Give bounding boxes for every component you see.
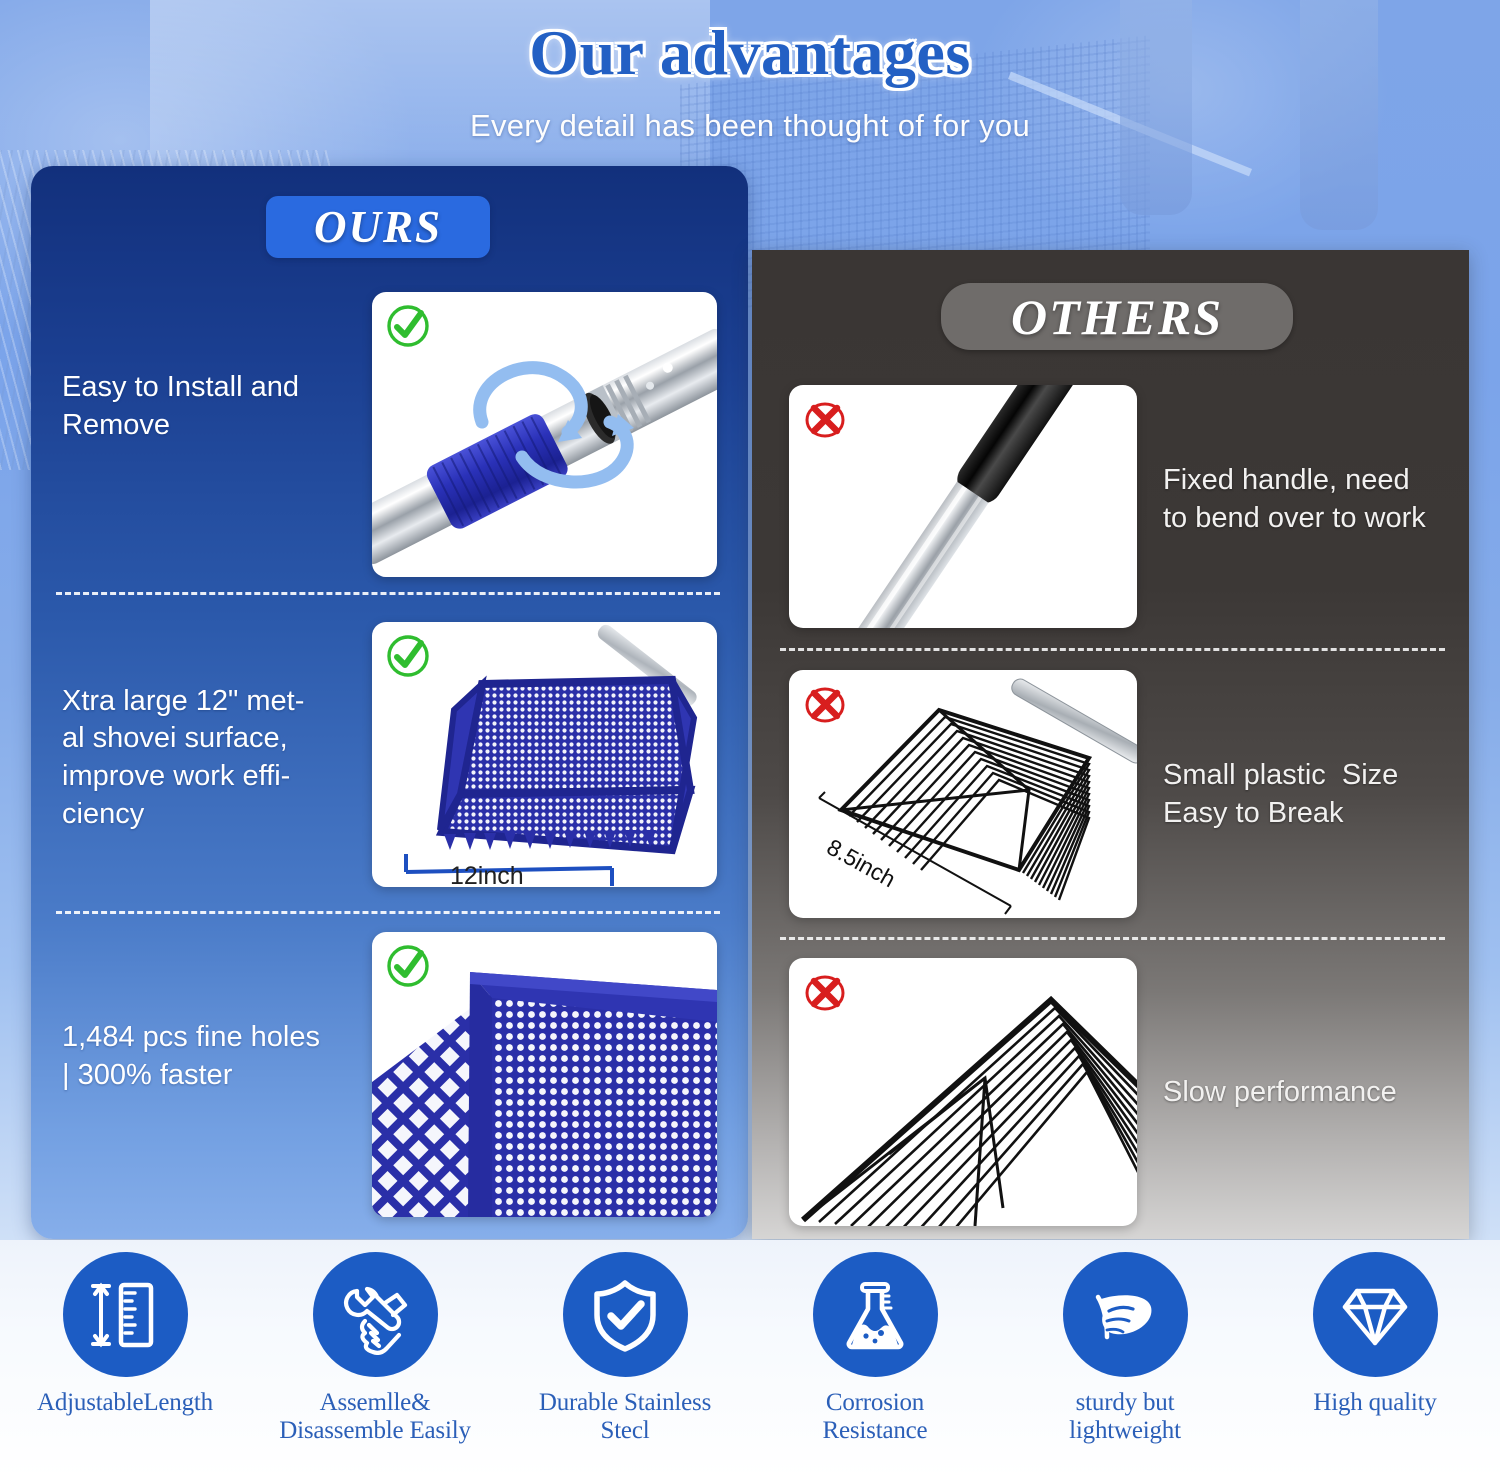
others-photo-1: [789, 385, 1137, 628]
label-line: High quality: [1313, 1389, 1436, 1417]
ours-feature-3-text: 1,484 pcs fine holes | 300% faster: [62, 1019, 382, 1094]
label-line: Assemlle&: [279, 1389, 471, 1417]
label-line: Disassemble Easily: [279, 1417, 471, 1445]
red-cross-icon: [801, 395, 849, 443]
others-feature-3-text: Slow performance: [1163, 1074, 1478, 1112]
green-check-icon: [384, 632, 432, 680]
shield-check-icon-circle: [563, 1252, 688, 1377]
bottom-feature-label: sturdy but lightweight: [1069, 1389, 1181, 1445]
label-line: Durable Stainless: [539, 1389, 711, 1417]
green-check-icon: [384, 302, 432, 350]
label-line: Corrosion: [823, 1389, 928, 1417]
others-feature-2-text: Small plastic Size Easy to Break: [1163, 757, 1478, 832]
ours-photo-1: [372, 292, 717, 577]
label-line: AdjustableLength: [37, 1389, 213, 1417]
bottom-feature-sturdy-lightweight[interactable]: sturdy but lightweight: [1000, 1240, 1250, 1478]
bottom-feature-strip: AdjustableLength Assemlle& Disassemble E…: [0, 1240, 1500, 1478]
label-line: Resistance: [823, 1417, 928, 1445]
bottom-feature-label: AdjustableLength: [37, 1389, 213, 1417]
others-feature-1-line-1: Fixed handle, need: [1163, 462, 1478, 500]
others-separator-1: [780, 648, 1445, 651]
diamond-icon: [1335, 1275, 1415, 1355]
ruler-icon-circle: [63, 1252, 188, 1377]
page-subtitle: Every detail has been thought of for you: [0, 108, 1500, 144]
others-badge-label: OTHERS: [1011, 288, 1223, 346]
page-title: Our advantages: [0, 16, 1500, 90]
others-badge: OTHERS: [941, 283, 1293, 350]
wrench-hand-icon: [335, 1275, 415, 1355]
others-feature-3-line-1: Slow performance: [1163, 1074, 1478, 1112]
ours-feature-2-line-1: Xtra large 12" met-: [62, 683, 362, 721]
label-line: sturdy but: [1069, 1389, 1181, 1417]
bottom-feature-durable-stainless[interactable]: Durable Stainless Stecl: [500, 1240, 750, 1478]
ours-badge-label: OURS: [314, 201, 442, 253]
label-line: lightweight: [1069, 1417, 1181, 1445]
wrench-hand-icon-circle: [313, 1252, 438, 1377]
green-check-icon: [384, 942, 432, 990]
ours-feature-2-line-3: improve work effi-: [62, 758, 362, 796]
ours-photo-3: [372, 932, 717, 1217]
label-line: Stecl: [539, 1417, 711, 1445]
ours-feature-2-line-2: al shovei surface,: [62, 720, 362, 758]
red-cross-icon: [801, 680, 849, 728]
ours-feature-1-text: Easy to Install and Remove: [62, 369, 362, 444]
others-feature-1: Fixed handle, need to bend over to work: [1163, 455, 1483, 545]
flask-icon: [835, 1275, 915, 1355]
red-cross-icon: [801, 968, 849, 1016]
ours-feature-3-line-2: | 300% faster: [62, 1057, 382, 1095]
others-photo-2: 8.5inch: [789, 670, 1137, 918]
others-feature-2-line-1: Small plastic Size: [1163, 757, 1478, 795]
bottom-feature-label: High quality: [1313, 1389, 1436, 1417]
ours-feature-3-line-1: 1,484 pcs fine holes: [62, 1019, 382, 1057]
flask-icon-circle: [813, 1252, 938, 1377]
ours-photo-2: 12inch: [372, 622, 717, 887]
bottom-feature-label: Assemlle& Disassemble Easily: [279, 1389, 471, 1445]
diamond-icon-circle: [1313, 1252, 1438, 1377]
others-photo-3: [789, 958, 1137, 1226]
ours-badge: OURS: [266, 196, 490, 258]
bottom-feature-label: Durable Stainless Stecl: [539, 1389, 711, 1445]
bottom-feature-assemble[interactable]: Assemlle& Disassemble Easily: [250, 1240, 500, 1478]
others-feature-2-line-2: Easy to Break: [1163, 795, 1478, 833]
ours-dimension-label: 12inch: [450, 862, 524, 887]
feather-icon-circle: [1063, 1252, 1188, 1377]
ours-separator-2: [56, 911, 720, 914]
ours-feature-2-text: Xtra large 12" met- al shovei surface, i…: [62, 683, 362, 834]
others-feature-3: Slow performance: [1163, 1068, 1493, 1118]
others-feature-1-line-2: to bend over to work: [1163, 500, 1478, 538]
bottom-feature-label: Corrosion Resistance: [823, 1389, 928, 1445]
others-feature-2: Small plastic Size Easy to Break: [1163, 750, 1483, 840]
bottom-feature-adjustable-length[interactable]: AdjustableLength: [0, 1240, 250, 1478]
bottom-feature-high-quality[interactable]: High quality: [1250, 1240, 1500, 1478]
ours-feature-2-line-4: ciency: [62, 796, 362, 834]
feather-icon: [1085, 1275, 1165, 1355]
others-separator-2: [780, 937, 1445, 940]
header: Our advantages Every detail has been tho…: [0, 0, 1500, 165]
others-dimension-label: 8.5inch: [823, 834, 900, 893]
bottom-feature-corrosion-resistance[interactable]: Corrosion Resistance: [750, 1240, 1000, 1478]
ours-separator-1: [56, 592, 720, 595]
others-feature-1-text: Fixed handle, need to bend over to work: [1163, 462, 1478, 537]
ruler-icon: [85, 1275, 165, 1355]
shield-check-icon: [585, 1275, 665, 1355]
